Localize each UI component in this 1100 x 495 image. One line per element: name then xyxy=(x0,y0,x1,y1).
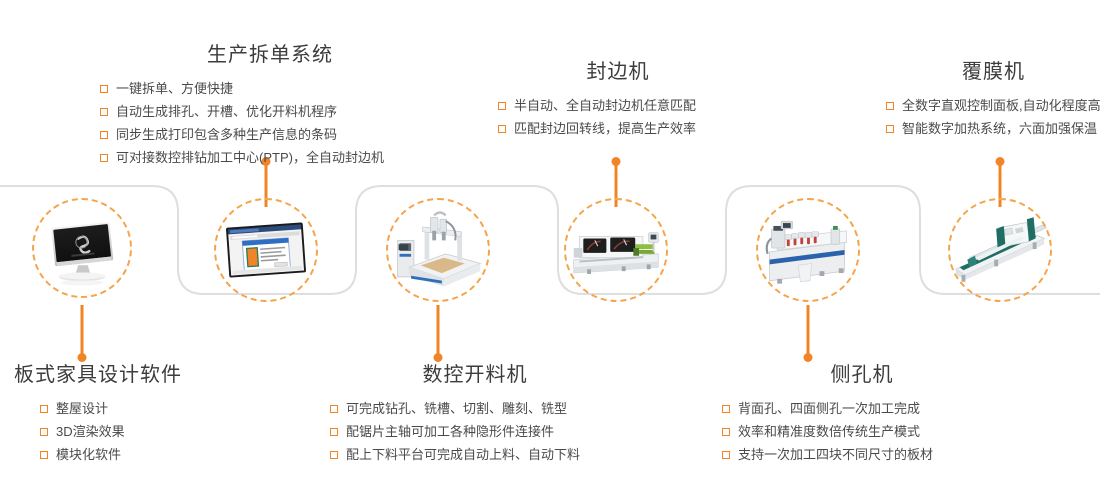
text-block-laminating-machine: 覆膜机 全数字直观控制面板,自动化程度高 智能数字加热系统，六面加强保温 xyxy=(886,55,1100,140)
checkbox-bullet-icon xyxy=(498,102,506,110)
feature-text: 整屋设计 xyxy=(56,397,108,420)
text-block-cnc-cutting-machine: 数控开料机 可完成钻孔、铣槽、切割、雕刻、铣型 配锯片主轴可加工各种隐形件连接件… xyxy=(330,358,620,466)
checkbox-bullet-icon xyxy=(330,405,338,413)
cnc-router-icon xyxy=(388,200,488,300)
section-title-laminating-machine: 覆膜机 xyxy=(886,55,1100,84)
checkbox-bullet-icon xyxy=(886,125,894,133)
text-block-side-hole-drilling-machine: 侧孔机 背面孔、四面侧孔一次加工完成 效率和精准度数倍传统生产模式 支持一次加工… xyxy=(722,358,1002,466)
section-title-side-hole-drilling-machine: 侧孔机 xyxy=(722,358,1002,387)
feature-text: 智能数字加热系统，六面加强保温 xyxy=(902,117,1097,140)
list-item: 效率和精准度数倍传统生产模式 xyxy=(722,420,1002,443)
section-title-edge-banding-machine: 封边机 xyxy=(498,55,738,84)
list-item: 同步生成打印包含多种生产信息的条码 xyxy=(100,123,440,146)
list-item: 智能数字加热系统，六面加强保温 xyxy=(886,117,1100,140)
list-item: 支持一次加工四块不同尺寸的板材 xyxy=(722,443,1002,466)
checkbox-bullet-icon xyxy=(40,405,48,413)
text-block-design-software: 板式家具设计软件 整屋设计 3D渲染效果 模块化软件 xyxy=(14,358,314,466)
list-item: 3D渲染效果 xyxy=(40,420,314,443)
section-title-design-software: 板式家具设计软件 xyxy=(14,358,314,387)
feature-list-order-splitting-system: 一键拆单、方便快捷 自动生成排孔、开槽、优化开料机程序 同步生成打印包含多种生产… xyxy=(100,77,440,169)
list-item: 配锯片主轴可加工各种隐形件连接件 xyxy=(330,420,620,443)
list-item: 半自动、全自动封边机任意匹配 xyxy=(498,94,738,117)
checkbox-bullet-icon xyxy=(498,125,506,133)
list-item: 背面孔、四面侧孔一次加工完成 xyxy=(722,397,1002,420)
node-side-hole-drilling-machine[interactable] xyxy=(756,198,860,302)
feature-list-laminating-machine: 全数字直观控制面板,自动化程度高 智能数字加热系统，六面加强保温 xyxy=(886,94,1100,140)
list-item: 自动生成排孔、开槽、优化开料机程序 xyxy=(100,100,440,123)
feature-text: 全数字直观控制面板,自动化程度高 xyxy=(902,94,1100,117)
node-design-software[interactable] xyxy=(32,198,132,298)
list-item: 可完成钻孔、铣槽、切割、雕刻、铣型 xyxy=(330,397,620,420)
feature-text: 同步生成打印包含多种生产信息的条码 xyxy=(116,123,337,146)
node-edge-banding-machine[interactable] xyxy=(564,198,668,302)
checkbox-bullet-icon xyxy=(886,102,894,110)
checkbox-bullet-icon xyxy=(100,131,108,139)
list-item: 整屋设计 xyxy=(40,397,314,420)
connector-design-software xyxy=(72,305,92,365)
list-item: 配上下料平台可完成自动上料、自动下料 xyxy=(330,443,620,466)
feature-text: 半自动、全自动封边机任意匹配 xyxy=(514,94,696,117)
workflow-diagram: 生产拆单系统 一键拆单、方便快捷 自动生成排孔、开槽、优化开料机程序 同步生成打… xyxy=(0,0,1100,495)
list-item: 全数字直观控制面板,自动化程度高 xyxy=(886,94,1100,117)
checkbox-bullet-icon xyxy=(100,85,108,93)
feature-list-design-software: 整屋设计 3D渲染效果 模块化软件 xyxy=(14,397,314,466)
section-title-order-splitting-system: 生产拆单系统 xyxy=(100,38,440,67)
feature-text: 背面孔、四面侧孔一次加工完成 xyxy=(738,397,920,420)
list-item: 模块化软件 xyxy=(40,443,314,466)
checkbox-bullet-icon xyxy=(330,451,338,459)
feature-list-edge-banding-machine: 半自动、全自动封边机任意匹配 匹配封边回转线，提高生产效率 xyxy=(498,94,738,140)
node-laminating-machine[interactable] xyxy=(948,198,1052,302)
side-driller-icon xyxy=(758,200,858,300)
feature-text: 自动生成排孔、开槽、优化开料机程序 xyxy=(116,100,337,123)
edge-bander-icon xyxy=(566,200,666,300)
node-order-splitting-system[interactable] xyxy=(214,198,318,302)
checkbox-bullet-icon xyxy=(722,428,730,436)
node-cnc-cutting-machine[interactable] xyxy=(386,198,490,302)
section-title-cnc-cutting-machine: 数控开料机 xyxy=(330,358,620,387)
laminator-icon xyxy=(950,200,1050,300)
feature-text: 效率和精准度数倍传统生产模式 xyxy=(738,420,920,443)
feature-text: 配上下料平台可完成自动上料、自动下料 xyxy=(346,443,580,466)
checkbox-bullet-icon xyxy=(330,428,338,436)
connector-cnc-cutting-machine xyxy=(428,305,448,365)
feature-list-cnc-cutting-machine: 可完成钻孔、铣槽、切割、雕刻、铣型 配锯片主轴可加工各种隐形件连接件 配上下料平… xyxy=(330,397,620,466)
imac-monitor-icon xyxy=(34,200,130,296)
feature-text: 可完成钻孔、铣槽、切割、雕刻、铣型 xyxy=(346,397,567,420)
list-item: 一键拆单、方便快捷 xyxy=(100,77,440,100)
feature-text: 模块化软件 xyxy=(56,443,121,466)
checkbox-bullet-icon xyxy=(40,428,48,436)
tablet-software-icon xyxy=(216,200,316,300)
feature-text: 3D渲染效果 xyxy=(56,420,125,443)
feature-text: 一键拆单、方便快捷 xyxy=(116,77,233,100)
feature-list-side-hole-drilling-machine: 背面孔、四面侧孔一次加工完成 效率和精准度数倍传统生产模式 支持一次加工四块不同… xyxy=(722,397,1002,466)
connector-side-hole-drilling-machine xyxy=(798,305,818,365)
text-block-order-splitting-system: 生产拆单系统 一键拆单、方便快捷 自动生成排孔、开槽、优化开料机程序 同步生成打… xyxy=(100,38,440,169)
checkbox-bullet-icon xyxy=(100,108,108,116)
text-block-edge-banding-machine: 封边机 半自动、全自动封边机任意匹配 匹配封边回转线，提高生产效率 xyxy=(498,55,738,140)
list-item: 可对接数控排钻加工中心(PTP)，全自动封边机 xyxy=(100,146,440,169)
checkbox-bullet-icon xyxy=(722,405,730,413)
feature-text: 配锯片主轴可加工各种隐形件连接件 xyxy=(346,420,554,443)
checkbox-bullet-icon xyxy=(722,451,730,459)
list-item: 匹配封边回转线，提高生产效率 xyxy=(498,117,738,140)
feature-text: 匹配封边回转线，提高生产效率 xyxy=(514,117,696,140)
checkbox-bullet-icon xyxy=(100,154,108,162)
feature-text: 可对接数控排钻加工中心(PTP)，全自动封边机 xyxy=(116,146,384,169)
feature-text: 支持一次加工四块不同尺寸的板材 xyxy=(738,443,933,466)
checkbox-bullet-icon xyxy=(40,451,48,459)
